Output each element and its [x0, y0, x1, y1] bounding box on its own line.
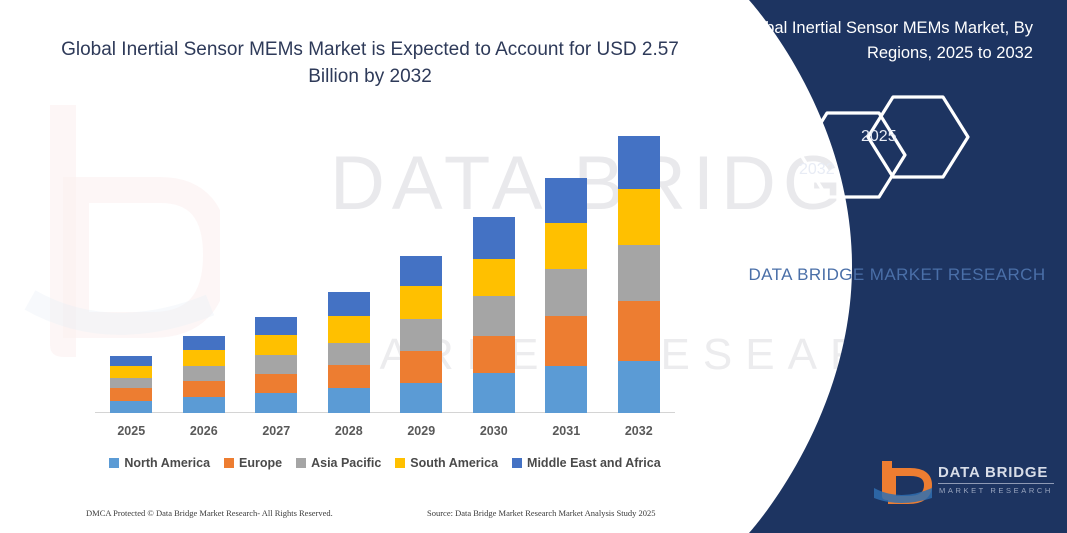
- x-axis-label-2028: 2028: [328, 424, 370, 438]
- hexagon-2032-label: 2032: [799, 161, 835, 179]
- x-axis-label-2027: 2027: [255, 424, 297, 438]
- logo-text-main: DATA BRIDGE: [938, 464, 1048, 481]
- x-axis-labels: 20252026202720282029203020312032: [95, 424, 675, 438]
- bar-segment[interactable]: [618, 245, 660, 301]
- company-logo: DATA BRIDGE MARKET RESEARCH: [872, 458, 1057, 506]
- footer-source: Source: Data Bridge Market Research Mark…: [427, 508, 656, 518]
- legend-label: Europe: [239, 456, 282, 470]
- bar-segment[interactable]: [618, 189, 660, 245]
- bar-segment[interactable]: [545, 178, 587, 223]
- legend-item[interactable]: Asia Pacific: [296, 456, 381, 470]
- legend-swatch-icon: [296, 458, 306, 468]
- bar-2032[interactable]: [618, 136, 660, 413]
- hexagon-pair-graphic: [767, 95, 1047, 210]
- bar-segment[interactable]: [328, 343, 370, 365]
- legend-item[interactable]: North America: [109, 456, 210, 470]
- bar-2027[interactable]: [255, 317, 297, 413]
- bar-segment[interactable]: [618, 301, 660, 361]
- bar-segment[interactable]: [255, 393, 297, 413]
- bar-segment[interactable]: [473, 259, 515, 296]
- bar-segment[interactable]: [618, 361, 660, 413]
- x-axis-label-2031: 2031: [545, 424, 587, 438]
- logo-text-sub: MARKET RESEARCH: [939, 486, 1053, 495]
- bar-segment[interactable]: [545, 223, 587, 269]
- bar-segment[interactable]: [618, 136, 660, 189]
- bar-segment[interactable]: [183, 366, 225, 381]
- data-bridge-b-icon: [872, 458, 934, 504]
- bar-segment[interactable]: [473, 336, 515, 373]
- bar-segment[interactable]: [400, 351, 442, 383]
- bar-segment[interactable]: [110, 356, 152, 366]
- bar-segment[interactable]: [255, 355, 297, 374]
- bar-2026[interactable]: [183, 336, 225, 413]
- bar-segment[interactable]: [328, 292, 370, 316]
- x-axis-label-2025: 2025: [110, 424, 152, 438]
- legend-item[interactable]: South America: [395, 456, 498, 470]
- bar-segment[interactable]: [255, 374, 297, 393]
- bar-segment[interactable]: [183, 350, 225, 366]
- bar-segment[interactable]: [400, 383, 442, 413]
- hexagon-2032-outline: [801, 113, 905, 197]
- bar-2029[interactable]: [400, 256, 442, 413]
- bar-2028[interactable]: [328, 292, 370, 413]
- legend-swatch-icon: [395, 458, 405, 468]
- bar-segment[interactable]: [110, 378, 152, 388]
- bar-segment[interactable]: [255, 335, 297, 355]
- legend-item[interactable]: Europe: [224, 456, 282, 470]
- bar-segment[interactable]: [473, 296, 515, 336]
- bar-segment[interactable]: [328, 365, 370, 388]
- legend-item[interactable]: Middle East and Africa: [512, 456, 661, 470]
- bar-segment[interactable]: [545, 366, 587, 413]
- legend-label: Middle East and Africa: [527, 456, 661, 470]
- panel-title: Global Inertial Sensor MEMs Market, By R…: [697, 16, 1047, 66]
- brand-panel-content: Global Inertial Sensor MEMs Market, By R…: [667, 0, 1067, 533]
- legend-label: South America: [410, 456, 498, 470]
- bar-segment[interactable]: [183, 381, 225, 397]
- bar-segment[interactable]: [545, 269, 587, 316]
- brand-name-text: DATA BRIDGE MARKET RESEARCH: [747, 262, 1047, 288]
- bar-segment[interactable]: [328, 388, 370, 413]
- bar-segment[interactable]: [473, 217, 515, 259]
- legend-label: Asia Pacific: [311, 456, 381, 470]
- chart-panel: Global Inertial Sensor MEMs Market is Ex…: [0, 0, 730, 533]
- legend-swatch-icon: [109, 458, 119, 468]
- bar-segment[interactable]: [545, 316, 587, 366]
- bar-segment[interactable]: [400, 256, 442, 286]
- footer-copyright: DMCA Protected © Data Bridge Market Rese…: [86, 508, 333, 518]
- infographic-root: DATA BRIDGE MARKET RESEARCH Global Inert…: [0, 0, 1067, 533]
- bar-2025[interactable]: [110, 356, 152, 413]
- bar-segment[interactable]: [183, 336, 225, 350]
- x-axis-label-2026: 2026: [183, 424, 225, 438]
- x-axis-label-2029: 2029: [400, 424, 442, 438]
- bar-segment[interactable]: [255, 317, 297, 335]
- bar-segment[interactable]: [473, 373, 515, 413]
- legend-swatch-icon: [512, 458, 522, 468]
- x-axis-label-2030: 2030: [473, 424, 515, 438]
- bar-chart-bars: [95, 110, 675, 413]
- bar-segment[interactable]: [400, 286, 442, 319]
- brand-panel: Global Inertial Sensor MEMs Market, By R…: [667, 0, 1067, 533]
- bar-segment[interactable]: [183, 397, 225, 413]
- hexagon-2025-label: 2025: [861, 128, 897, 146]
- bar-segment[interactable]: [110, 401, 152, 413]
- legend-label: North America: [124, 456, 210, 470]
- page-title: Global Inertial Sensor MEMs Market is Ex…: [60, 36, 680, 90]
- logo-divider: [938, 483, 1054, 484]
- bar-segment[interactable]: [328, 316, 370, 343]
- x-axis-label-2032: 2032: [618, 424, 660, 438]
- bar-2030[interactable]: [473, 217, 515, 413]
- legend-swatch-icon: [224, 458, 234, 468]
- bar-segment[interactable]: [400, 319, 442, 351]
- chart-legend: North AmericaEuropeAsia PacificSouth Ame…: [95, 456, 675, 470]
- bar-segment[interactable]: [110, 388, 152, 401]
- bar-2031[interactable]: [545, 178, 587, 413]
- bar-segment[interactable]: [110, 366, 152, 378]
